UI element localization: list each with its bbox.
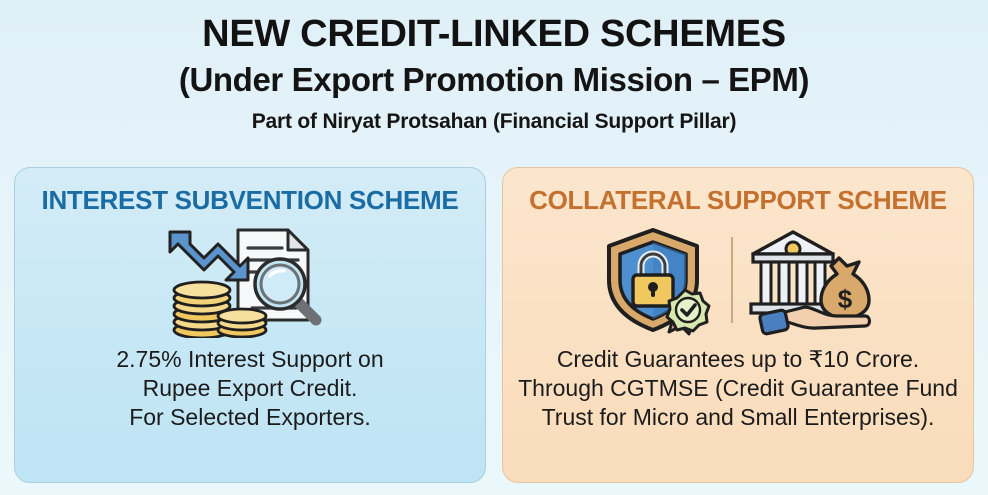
body-line: For Selected Exporters. bbox=[116, 403, 383, 432]
icon-divider bbox=[731, 237, 733, 323]
panel-title-interest-subvention: INTEREST SUBVENTION SCHEME bbox=[42, 168, 459, 215]
body-line: Rupee Export Credit. bbox=[116, 374, 383, 403]
body-line: 2.75% Interest Support on bbox=[116, 345, 383, 374]
interest-subvention-icon-group bbox=[15, 221, 485, 339]
panel-collateral-support[interactable]: COLLATERAL SUPPORT SCHEME bbox=[502, 167, 974, 483]
collateral-support-icon-group: $ bbox=[503, 221, 973, 339]
interest-subvention-illustration bbox=[160, 222, 340, 338]
panel-title-collateral-support: COLLATERAL SUPPORT SCHEME bbox=[529, 168, 947, 215]
declining-arrow-icon bbox=[170, 232, 248, 280]
body-line: Trust for Micro and Small Enterprises). bbox=[518, 403, 958, 432]
svg-text:$: $ bbox=[838, 284, 853, 314]
body-line: Through CGTMSE (Credit Guarantee Fund bbox=[518, 374, 958, 403]
bank-money-illustration: $ bbox=[747, 224, 875, 336]
page-tagline: Part of Niryat Protsahan (Financial Supp… bbox=[0, 98, 988, 134]
infographic-page: NEW CREDIT-LINKED SCHEMES (Under Export … bbox=[0, 0, 988, 495]
page-title: NEW CREDIT-LINKED SCHEMES bbox=[0, 0, 988, 55]
shield-lock-illustration bbox=[601, 224, 717, 336]
body-line: Credit Guarantees up to ₹10 Crore. bbox=[518, 345, 958, 374]
panel-interest-subvention[interactable]: INTEREST SUBVENTION SCHEME bbox=[14, 167, 486, 483]
header: NEW CREDIT-LINKED SCHEMES (Under Export … bbox=[0, 0, 988, 134]
interest-subvention-body: 2.75% Interest Support on Rupee Export C… bbox=[102, 339, 397, 433]
collateral-support-body: Credit Guarantees up to ₹10 Crore. Throu… bbox=[504, 339, 972, 433]
page-subtitle: (Under Export Promotion Mission – EPM) bbox=[0, 55, 988, 98]
scheme-panels: INTEREST SUBVENTION SCHEME bbox=[14, 167, 974, 483]
